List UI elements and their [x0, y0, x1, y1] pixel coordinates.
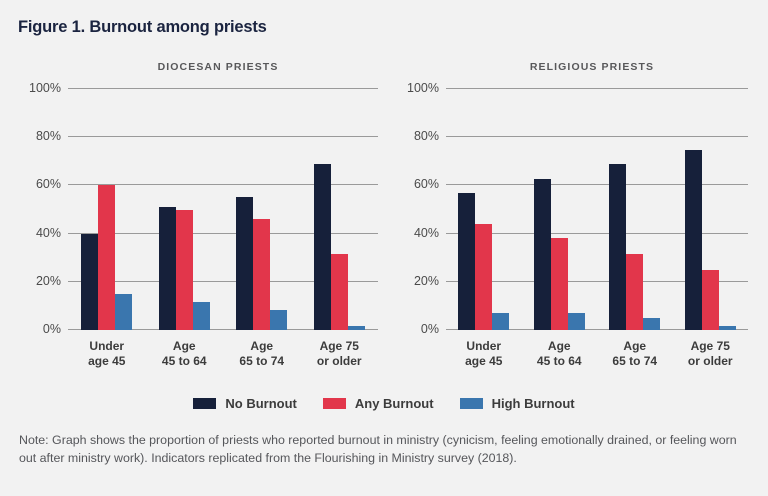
y-axis-tick-label: 40%	[414, 226, 439, 240]
bar-group	[458, 89, 509, 330]
legend-label: Any Burnout	[355, 396, 434, 411]
bar-high-burnout	[492, 313, 509, 330]
y-axis-tick-label: 60%	[36, 177, 61, 191]
x-axis-label: Age65 to 74	[597, 339, 673, 369]
y-axis-tick-label: 80%	[36, 129, 61, 143]
bar-group	[159, 89, 210, 330]
y-axis-tick-label: 100%	[29, 81, 61, 95]
bar-groups-religious	[446, 89, 748, 330]
chart-panels: DIOCESAN PRIESTS 0%20%40%60%80%100% Unde…	[0, 55, 768, 375]
bar-any-burnout	[176, 210, 193, 331]
bar-high-burnout	[643, 318, 660, 330]
bar-high-burnout	[115, 294, 132, 330]
x-axis-label: Underage 45	[446, 339, 522, 369]
bar-high-burnout	[270, 310, 287, 330]
bar-groups-diocesan	[68, 89, 378, 330]
legend-label: No Burnout	[225, 396, 296, 411]
plot-area-religious: 0%20%40%60%80%100% Underage 45Age45 to 6…	[446, 89, 748, 330]
legend-item-any-burnout: Any Burnout	[323, 396, 434, 411]
figure-note: Note: Graph shows the proportion of prie…	[19, 432, 745, 468]
y-axis-tick-label: 20%	[36, 274, 61, 288]
bar-any-burnout	[702, 270, 719, 330]
y-axis-tick-label: 60%	[414, 177, 439, 191]
bar-no-burnout	[685, 150, 702, 330]
bar-any-burnout	[253, 219, 270, 330]
bar-high-burnout	[568, 313, 585, 330]
panel-title-religious: RELIGIOUS PRIESTS	[388, 61, 768, 73]
legend-item-no-burnout: No Burnout	[193, 396, 296, 411]
legend-swatch-no-burnout	[193, 398, 216, 409]
bar-group	[81, 89, 132, 330]
y-axis-tick-label: 20%	[414, 274, 439, 288]
figure-container: Figure 1. Burnout among priests DIOCESAN…	[0, 0, 768, 496]
bar-no-burnout	[534, 179, 551, 330]
x-axis-labels-diocesan: Underage 45Age45 to 64Age65 to 74Age 75o…	[68, 330, 378, 369]
panel-religious: RELIGIOUS PRIESTS 0%20%40%60%80%100% Und…	[388, 55, 768, 375]
bar-any-burnout	[98, 185, 115, 330]
x-axis-label: Age45 to 64	[522, 339, 598, 369]
x-axis-label: Underage 45	[68, 339, 146, 369]
bar-group	[236, 89, 287, 330]
bar-no-burnout	[159, 207, 176, 330]
bar-no-burnout	[458, 193, 475, 330]
bar-any-burnout	[475, 224, 492, 330]
bar-no-burnout	[314, 164, 331, 330]
bar-any-burnout	[626, 254, 643, 330]
bar-group	[609, 89, 660, 330]
bar-high-burnout	[193, 302, 210, 330]
bar-group	[685, 89, 736, 330]
legend-swatch-high-burnout	[460, 398, 483, 409]
figure-title: Figure 1. Burnout among priests	[18, 18, 267, 37]
legend-label: High Burnout	[492, 396, 575, 411]
x-axis-label: Age65 to 74	[223, 339, 301, 369]
bar-any-burnout	[331, 254, 348, 330]
legend-item-high-burnout: High Burnout	[460, 396, 575, 411]
bar-no-burnout	[609, 164, 626, 330]
chart-legend: No BurnoutAny BurnoutHigh Burnout	[0, 396, 768, 411]
bar-group	[314, 89, 365, 330]
plot-area-diocesan: 0%20%40%60%80%100% Underage 45Age45 to 6…	[68, 89, 378, 330]
legend-swatch-any-burnout	[323, 398, 346, 409]
panel-diocesan: DIOCESAN PRIESTS 0%20%40%60%80%100% Unde…	[0, 55, 388, 375]
bar-no-burnout	[81, 234, 98, 330]
panel-title-diocesan: DIOCESAN PRIESTS	[0, 61, 388, 73]
bar-group	[534, 89, 585, 330]
y-axis-tick-label: 80%	[414, 129, 439, 143]
y-axis-tick-label: 40%	[36, 226, 61, 240]
y-axis-tick-label: 0%	[43, 322, 61, 336]
x-axis-label: Age45 to 64	[146, 339, 224, 369]
bar-any-burnout	[551, 238, 568, 330]
x-axis-label: Age 75or older	[301, 339, 379, 369]
x-axis-label: Age 75or older	[673, 339, 749, 369]
y-axis-tick-label: 0%	[421, 322, 439, 336]
y-axis-tick-label: 100%	[407, 81, 439, 95]
bar-no-burnout	[236, 197, 253, 330]
x-axis-labels-religious: Underage 45Age45 to 64Age65 to 74Age 75o…	[446, 330, 748, 369]
